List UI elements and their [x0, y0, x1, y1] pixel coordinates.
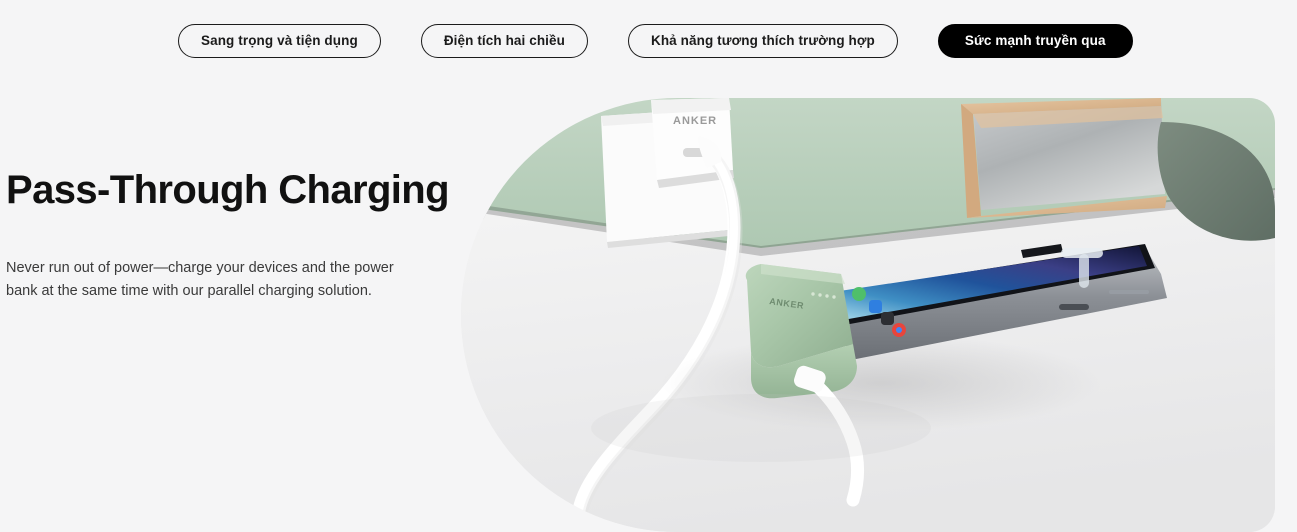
body-paragraph: Never run out of power—charge your devic… — [6, 257, 396, 304]
tab-sang-trong-va-tien-dung[interactable]: Sang trọng và tiện dụng — [178, 24, 381, 58]
camera-app-icon — [881, 312, 894, 325]
feature-tab-list: Sang trọng và tiện dụng Điện tích hai ch… — [178, 24, 1133, 58]
hero-image: ANKER — [461, 98, 1275, 532]
hero-illustration: ANKER — [461, 98, 1275, 532]
blue-app-icon — [869, 300, 882, 313]
tab-dien-tich-hai-chieu[interactable]: Điện tích hai chiều — [421, 24, 588, 58]
picture-frame — [961, 98, 1167, 218]
page-title: Pass-Through Charging — [6, 168, 436, 213]
svg-text:ANKER: ANKER — [673, 115, 717, 127]
charging-port — [1059, 304, 1089, 310]
front-shadow — [591, 394, 931, 462]
pass-through-charging-section: Sang trọng và tiện dụng Điện tích hai ch… — [0, 0, 1297, 532]
tab-suc-manh-truyen-qua[interactable]: Sức mạnh truyền qua — [938, 24, 1133, 58]
phone-app-icon — [852, 287, 866, 301]
tab-kha-nang-tuong-thich-truong-hop[interactable]: Khả năng tương thích trường hợp — [628, 24, 898, 58]
copy-column: Pass-Through Charging Never run out of p… — [6, 168, 436, 304]
